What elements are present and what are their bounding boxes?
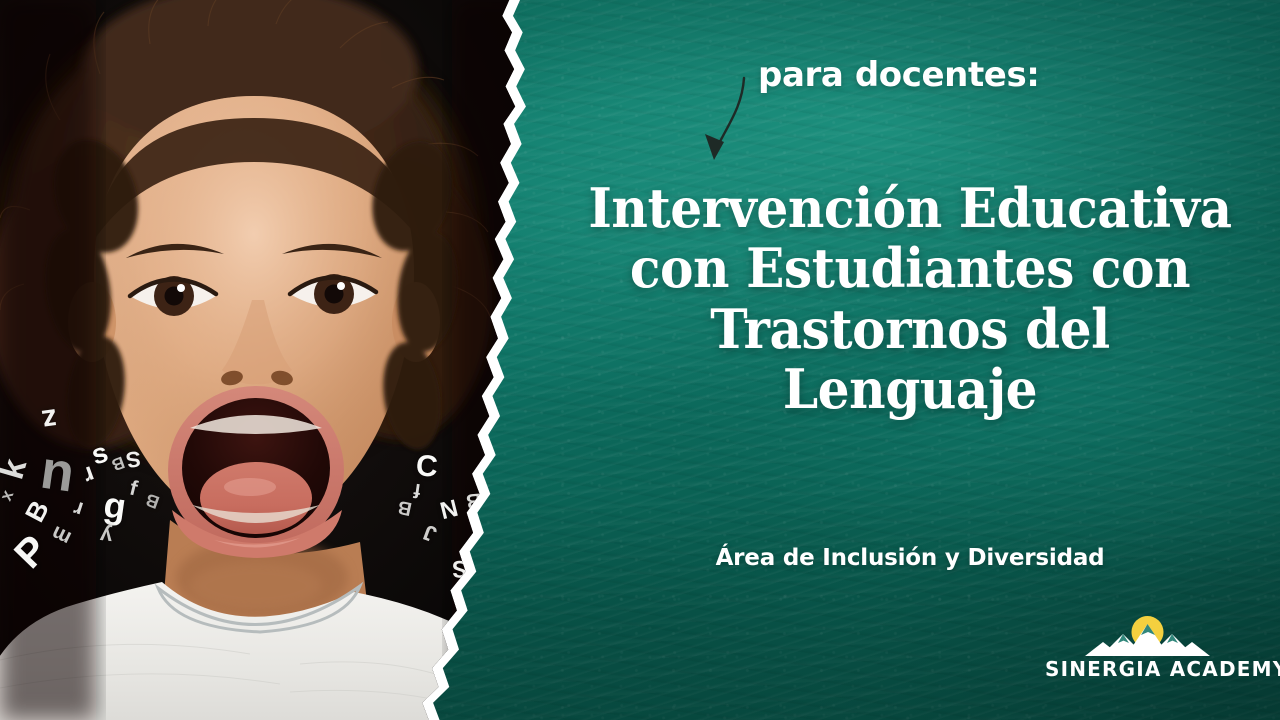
child-photo: kuzxBPmrrsBSgfByCfBNBJS	[0, 0, 540, 720]
headline-line-1: Intervención Educativa	[585, 178, 1236, 238]
kicker-text: para docentes:	[758, 55, 1040, 95]
torn-paper-edge: kuzxBPmrrsBSgfByCfBNBJS	[0, 0, 540, 720]
slide-canvas: kuzxBPmrrsBSgfByCfBNBJS para docentes: I…	[0, 0, 1280, 720]
subtitle-text: Área de Inclusión y Diversidad	[560, 545, 1260, 571]
headline-line-4: Lenguaje	[585, 359, 1236, 419]
curved-arrow-icon	[680, 68, 760, 168]
content-column: para docentes: Intervención Educativa co…	[540, 0, 1280, 720]
headline-line-2: con Estudiantes con	[585, 238, 1236, 298]
logo: SINERGIA ACADEMY	[1045, 612, 1250, 694]
headline-line-3: Trastornos del	[585, 299, 1236, 359]
headline: Intervención Educativa con Estudiantes c…	[560, 178, 1260, 420]
child-photo-illustration	[0, 0, 540, 720]
logo-wordmark: SINERGIA ACADEMY	[1045, 657, 1250, 681]
